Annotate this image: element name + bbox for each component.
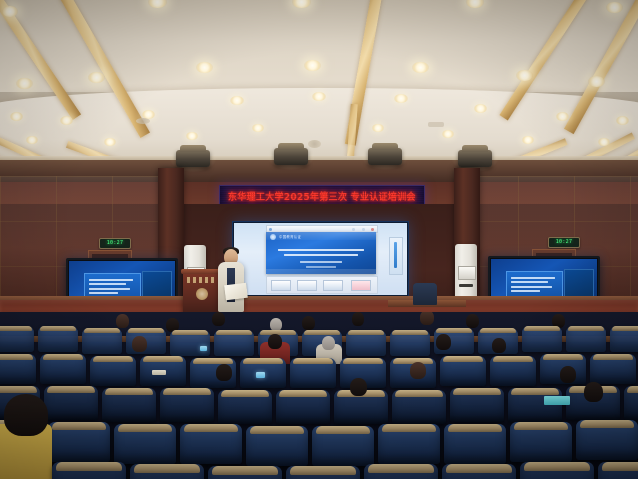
downlight: [16, 78, 33, 89]
phone-screen: [256, 372, 265, 378]
seat: [364, 464, 438, 479]
seat: [160, 388, 214, 422]
seat: [38, 326, 78, 352]
led-clock-left-value: 10:27: [100, 240, 130, 246]
podium-top-surface: [181, 269, 223, 274]
slide-thumbnail-strip: [266, 276, 378, 294]
auditorium-photo: 东华理工大学2025年第三次 专业认证培训会 10:27 10:27: [0, 0, 638, 479]
seat: [0, 326, 34, 352]
attendee-head: [132, 336, 147, 352]
seat: [566, 326, 606, 352]
seat: [624, 386, 638, 420]
podium: [183, 272, 221, 316]
downlight: [394, 94, 408, 103]
seat: [610, 326, 638, 352]
seat: [346, 330, 386, 356]
led-clock-left: 10:27: [99, 238, 131, 249]
seat: [90, 356, 136, 386]
seat: [490, 356, 536, 386]
organization-logo-icon: [270, 234, 276, 240]
ceiling-grille: [428, 122, 444, 127]
app-close-icon[interactable]: [371, 228, 374, 231]
downlight: [616, 116, 629, 125]
seat: [208, 466, 282, 479]
led-clock-right-value: 10:27: [549, 239, 579, 245]
stage-spotlight: [176, 150, 210, 167]
seat: [276, 390, 330, 424]
dialog-text-line: [89, 283, 125, 285]
seat: [522, 326, 562, 352]
slide-footer-bar: [266, 269, 376, 274]
seat: [246, 426, 308, 466]
slide-thumbnail[interactable]: [297, 280, 317, 291]
app-icon: [362, 228, 365, 231]
university-emblem-icon: [196, 288, 208, 300]
attendee-head: [492, 338, 506, 353]
attendee-head: [436, 334, 451, 350]
ceiling: [0, 0, 638, 170]
seat: [598, 462, 638, 479]
seat: [170, 330, 210, 356]
attendee-head: [116, 314, 129, 328]
app-icon: [352, 228, 355, 231]
downlight: [412, 62, 429, 73]
downlight: [60, 116, 73, 125]
seat: [214, 330, 254, 356]
seat: [392, 390, 446, 424]
seat: [290, 358, 336, 388]
downlight: [516, 70, 533, 81]
dialog-text-line: [511, 281, 547, 283]
attendee-head: [410, 362, 426, 379]
projection-screen: 中国教育认证: [232, 221, 409, 297]
stage-spotlight: [368, 148, 402, 165]
downlight: [372, 124, 384, 132]
seat: [442, 464, 516, 479]
downlight: [26, 136, 38, 144]
seat: [130, 464, 204, 479]
seat: [450, 388, 504, 422]
attendee-head: [216, 364, 232, 381]
dialog-text-line: [511, 286, 552, 288]
seat: [40, 354, 86, 384]
seat: [390, 330, 430, 356]
attendee-head: [212, 312, 225, 326]
seat: [48, 422, 110, 462]
slide-subtitle-line: [306, 266, 336, 268]
downlight: [304, 60, 321, 71]
led-banner-text: 东华理工大学2025年第三次 专业认证培训会: [228, 189, 416, 203]
seat: [508, 388, 562, 422]
downlight: [252, 124, 264, 132]
attendee-document: [152, 370, 166, 375]
attendee-head: [466, 314, 479, 328]
stage-spotlight: [274, 148, 308, 165]
seat: [378, 424, 440, 464]
seat: [102, 388, 156, 422]
downlight: [588, 76, 605, 87]
attendee-head: [322, 336, 335, 350]
downlight: [88, 72, 105, 83]
seat: [180, 424, 242, 464]
seat: [82, 328, 122, 354]
slide-title-line: [284, 254, 358, 256]
seat: [218, 390, 272, 424]
slide-subtitle-line: [300, 261, 342, 263]
attendee-head: [420, 312, 434, 325]
seat: [0, 354, 36, 384]
seat: [444, 424, 506, 464]
slide-panel-indicator: [394, 242, 397, 268]
dialog-text-line: [511, 277, 555, 279]
downlight: [104, 138, 116, 146]
smoke-detector-icon: [308, 140, 321, 148]
seat: [576, 420, 638, 460]
dialog-text-line: [89, 292, 118, 294]
attendee-head: [352, 312, 364, 326]
downlight: [522, 136, 534, 144]
app-icon: [269, 228, 272, 231]
seat: [52, 462, 126, 479]
downlight: [10, 112, 23, 121]
slide-thumbnail[interactable]: [323, 280, 343, 291]
seat: [590, 354, 636, 384]
phone-screen: [200, 346, 207, 351]
seat: [510, 422, 572, 462]
downlight: [230, 96, 244, 105]
downlight: [606, 2, 623, 13]
stage-spotlight: [458, 150, 492, 167]
attendee-document-highlight: [544, 396, 570, 405]
attendee-head: [268, 334, 282, 349]
dialog-text-line: [511, 290, 540, 292]
downlight: [442, 130, 454, 138]
downlight: [2, 6, 18, 17]
slide-thumbnail[interactable]: [271, 280, 291, 291]
seat: [44, 386, 98, 420]
downlight: [312, 92, 326, 101]
led-banner: 东华理工大学2025年第三次 专业认证培训会: [219, 185, 425, 206]
downlight: [598, 138, 610, 146]
dialog-text-line: [89, 288, 130, 290]
ceiling-vent: [136, 118, 150, 124]
slide-panel-right: [389, 237, 403, 275]
slide-logo-text: 中国教育认证: [279, 234, 301, 239]
seat: [440, 356, 486, 386]
stage-chair: [413, 283, 437, 305]
attendee-head-foreground: [4, 394, 48, 436]
led-clock-right: 10:27: [548, 237, 580, 248]
attendee-head: [560, 366, 576, 383]
seat: [312, 426, 374, 466]
projection-screen-surface: 中国教育认证: [234, 223, 407, 295]
dialog-text-line: [89, 279, 133, 281]
attendee-head: [584, 382, 603, 402]
audience-area: [0, 312, 638, 479]
downlight: [474, 104, 487, 113]
speaker-documents: [224, 283, 248, 301]
downlight: [186, 132, 198, 140]
attendee-head: [302, 316, 315, 330]
slide-title-line: [278, 249, 364, 251]
seat: [520, 462, 594, 479]
podium-inscription: [187, 277, 217, 283]
seat: [286, 466, 360, 479]
seat: [114, 424, 176, 464]
slide-content: 中国教育认证: [266, 232, 376, 274]
slide-thumbnail[interactable]: [351, 280, 371, 291]
downlight: [196, 62, 213, 73]
attendee-head: [350, 378, 367, 396]
downlight: [556, 112, 569, 121]
